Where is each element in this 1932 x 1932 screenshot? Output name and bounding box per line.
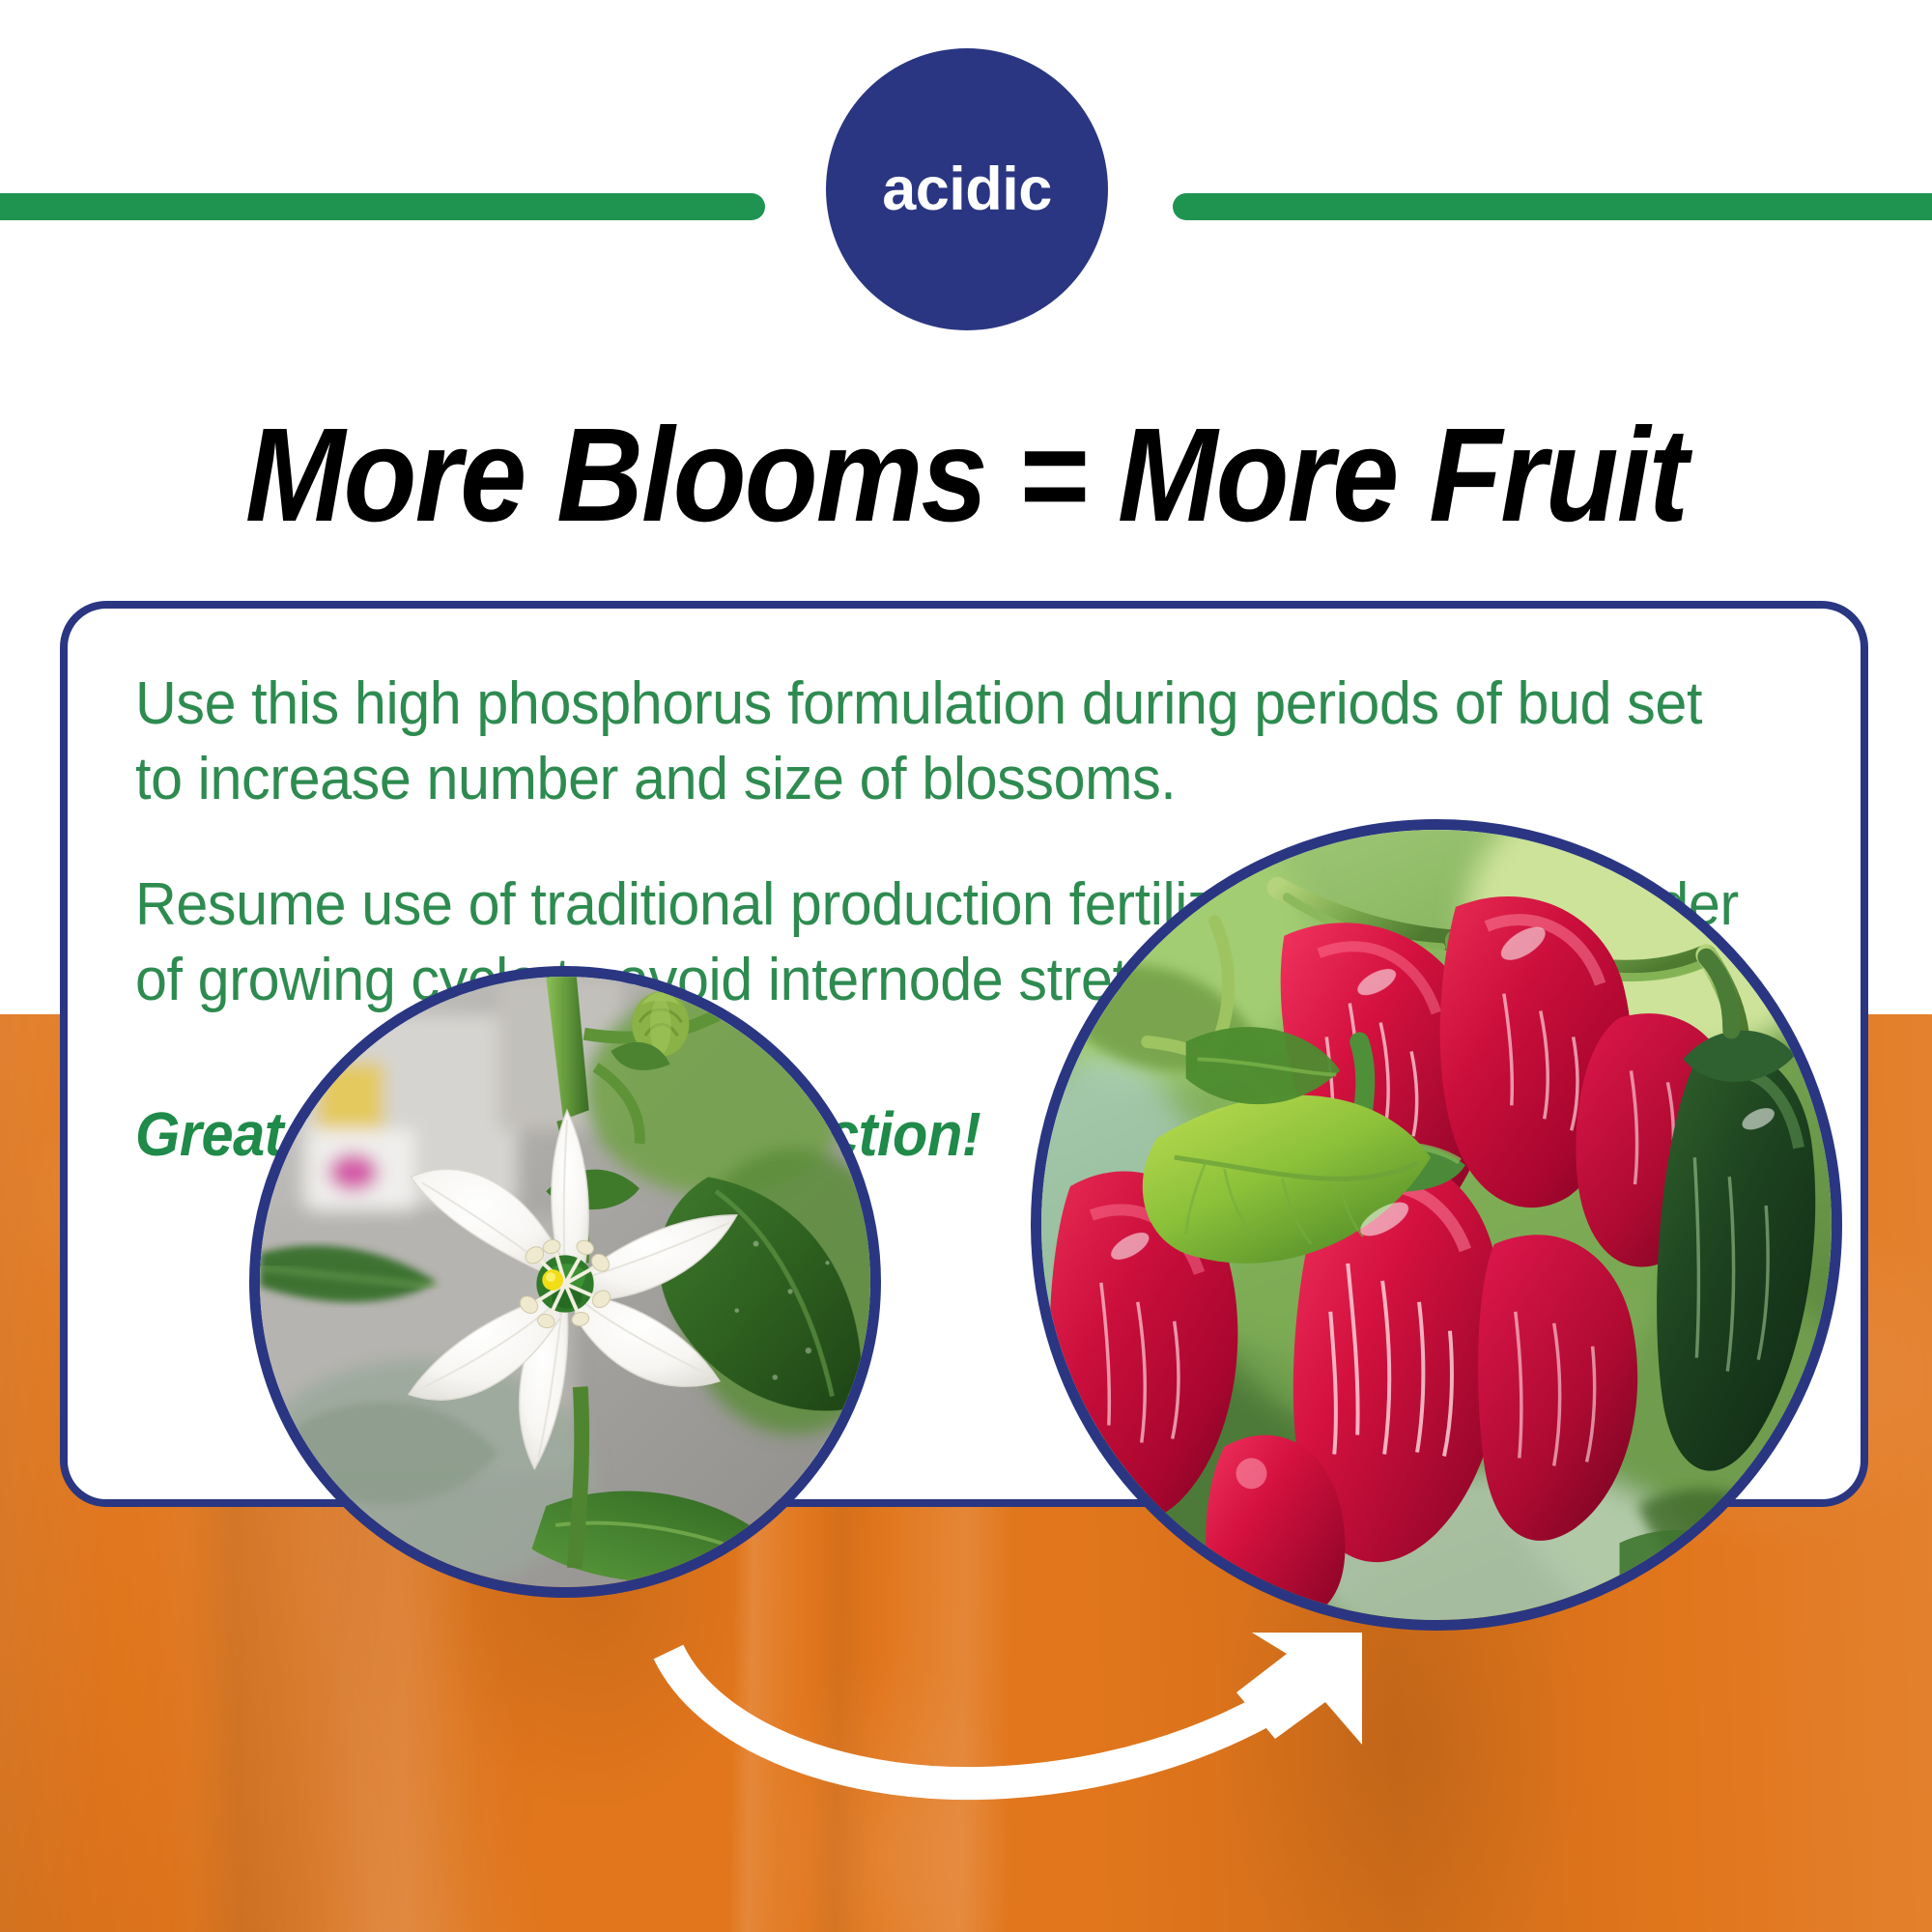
paragraph-bud-set: Use this high phosphorus formulation dur… [135,667,1759,817]
divider-rule-right [1173,193,1932,220]
pepper-blossom-photo [249,966,881,1598]
infographic-poster: acidic More Blooms = More Fruit Use this… [0,0,1932,1932]
pepper-blossom-illustration [260,977,870,1587]
page-title: More Blooms = More Fruit [97,406,1835,546]
acidic-badge: acidic [826,48,1108,330]
divider-rule-left [0,193,765,220]
pepper-fruit-photo [1031,819,1842,1631]
pepper-fruit-illustration [1041,830,1832,1620]
acidic-badge-label: acidic [882,159,1052,220]
